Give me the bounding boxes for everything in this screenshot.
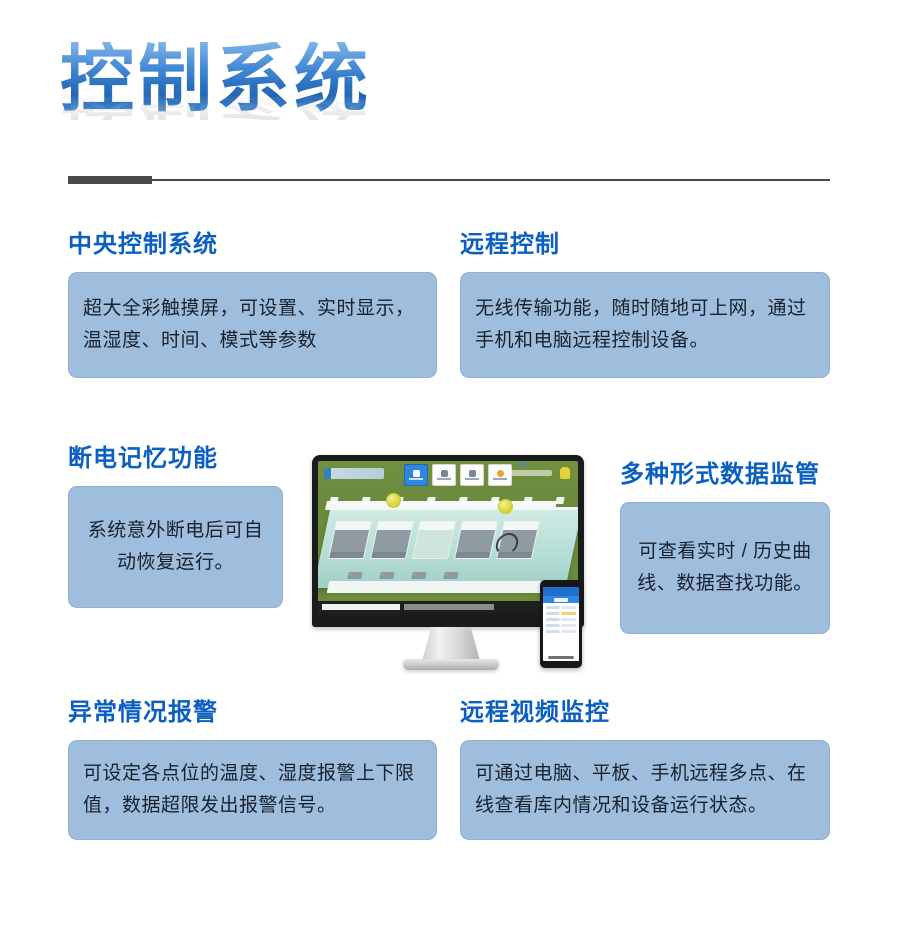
scada-tab-group xyxy=(404,464,512,486)
phone-app-header xyxy=(543,587,579,596)
equipment-units xyxy=(347,572,458,579)
statusbar-left xyxy=(322,604,400,610)
equipment-unit xyxy=(411,572,426,579)
feature-card-text: 可通过电脑、平板、手机远程多点、在线查看库内情况和设备运行状态。 xyxy=(460,740,830,840)
roof-posts xyxy=(329,497,564,504)
warehouse-floorplan xyxy=(322,491,574,595)
phone-home-indicator xyxy=(548,656,574,659)
phone-screen xyxy=(543,587,579,661)
title-divider xyxy=(68,176,830,184)
feature-card-text: 可设定各点位的温度、湿度报警上下限值，数据超限发出报警信号。 xyxy=(68,740,437,840)
feature-heading: 断电记忆功能 xyxy=(68,446,283,472)
scada-toolbar xyxy=(318,461,578,487)
divider-accent-bar xyxy=(68,176,152,184)
feature-heading: 远程视频监控 xyxy=(460,700,830,726)
sensor-indicator-icon xyxy=(386,493,401,508)
feature-heading: 远程控制 xyxy=(460,232,830,258)
smartphone xyxy=(540,580,582,668)
storage-room xyxy=(454,521,498,559)
equipment-unit xyxy=(443,572,458,579)
feature-abnormal-alarm: 异常情况报警 可设定各点位的温度、湿度报警上下限值，数据超限发出报警信号。 xyxy=(68,700,437,840)
scada-tab-overview xyxy=(404,464,428,486)
feature-central-control-system: 中央控制系统 超大全彩触摸屏，可设置、实时显示，温湿度、时间、模式等参数 xyxy=(68,232,437,378)
scada-status-text xyxy=(510,470,552,476)
feature-data-supervision: 多种形式数据监管 可查看实时 / 历史曲线、数据查找功能。 xyxy=(620,462,830,634)
phone-app-tabbar xyxy=(543,596,579,603)
page-title-block: 控制系统 控制系统 xyxy=(60,42,540,172)
scada-tab-devices xyxy=(432,464,456,486)
scada-window-controls xyxy=(520,462,572,466)
sensor-indicator-icon xyxy=(498,499,513,514)
phone-data-list xyxy=(543,603,579,633)
list-item xyxy=(546,606,576,609)
storage-room xyxy=(412,521,456,559)
bell-icon xyxy=(560,467,570,479)
list-item xyxy=(546,612,576,615)
list-item xyxy=(546,624,576,627)
monitor-screen xyxy=(318,461,578,613)
feature-remote-video-monitoring: 远程视频监控 可通过电脑、平板、手机远程多点、在线查看库内情况和设备运行状态。 xyxy=(460,700,830,840)
company-logo xyxy=(324,468,384,479)
feature-heading: 异常情况报警 xyxy=(68,700,437,726)
divider-line xyxy=(152,179,830,181)
feature-card-text: 超大全彩触摸屏，可设置、实时显示，温湿度、时间、模式等参数 xyxy=(68,272,437,378)
scada-statusbar xyxy=(318,601,578,613)
equipment-unit xyxy=(379,572,394,579)
list-item xyxy=(546,630,576,633)
scada-tab-alarms xyxy=(488,464,512,486)
monitor-stand-neck xyxy=(422,627,480,661)
equipment-unit xyxy=(347,572,362,579)
scada-tab-records xyxy=(460,464,484,486)
feature-card-text: 可查看实时 / 历史曲线、数据查找功能。 xyxy=(620,502,830,634)
storage-room xyxy=(370,521,414,559)
feature-card-text: 无线传输功能，随时随地可上网，通过手机和电脑远程控制设备。 xyxy=(460,272,830,378)
list-item xyxy=(546,618,576,621)
monitor-stand-base xyxy=(403,659,499,670)
feature-heading: 中央控制系统 xyxy=(68,232,437,258)
device-illustration xyxy=(312,455,590,675)
feature-power-failure-memory: 断电记忆功能 系统意外断电后可自动恢复运行。 xyxy=(68,446,283,608)
feature-heading: 多种形式数据监管 xyxy=(620,462,830,488)
statusbar-message xyxy=(404,604,494,610)
floor-edge xyxy=(327,581,546,593)
feature-card-text: 系统意外断电后可自动恢复运行。 xyxy=(68,486,283,608)
page-title: 控制系统 xyxy=(60,42,540,116)
feature-remote-control: 远程控制 无线传输功能，随时随地可上网，通过手机和电脑远程控制设备。 xyxy=(460,232,830,378)
storage-room xyxy=(328,521,372,559)
